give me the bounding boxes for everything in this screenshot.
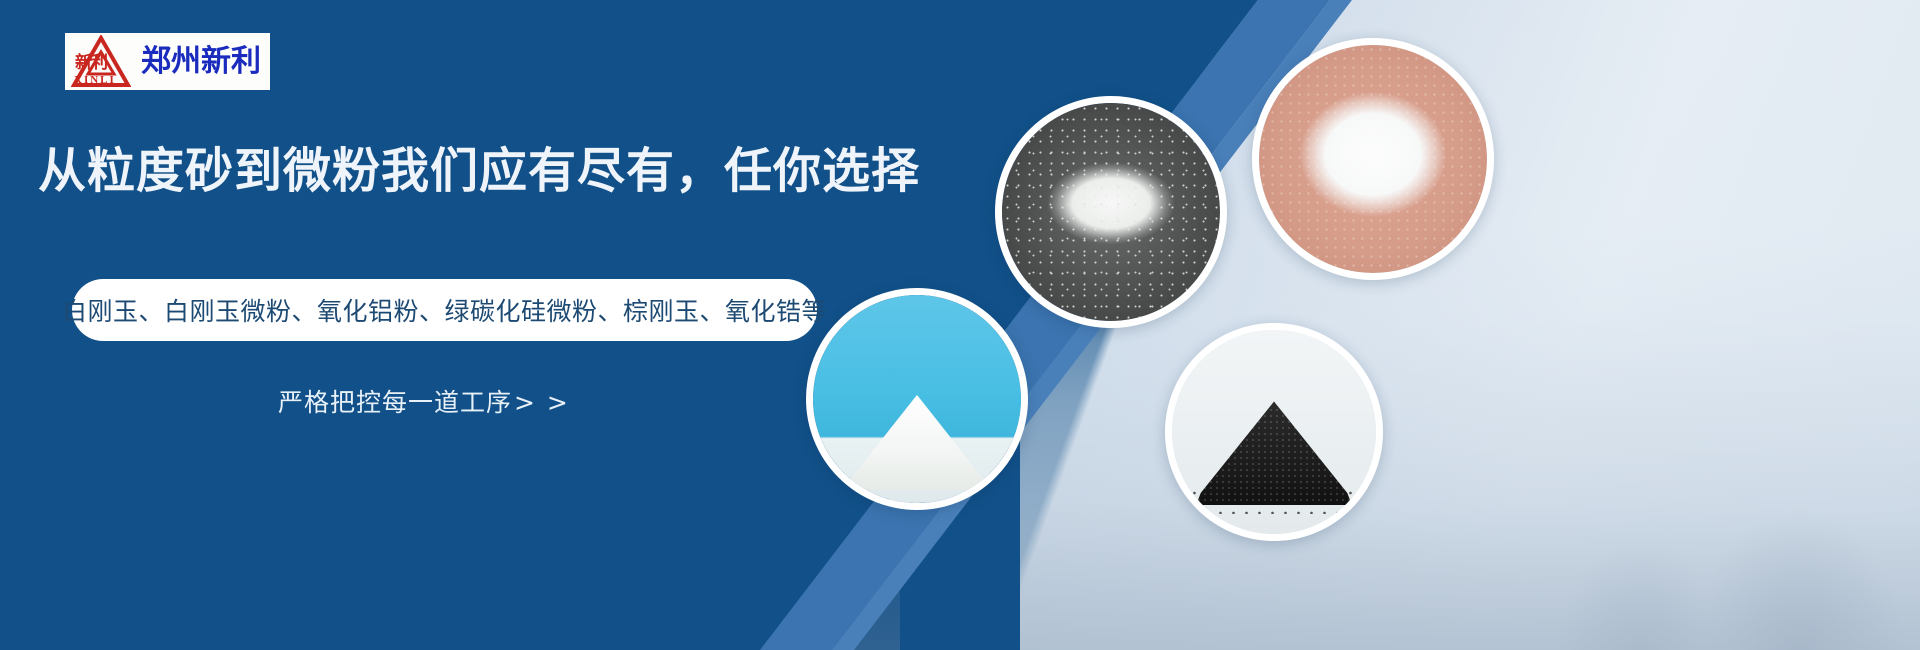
logo-company-name: 郑州新利	[141, 47, 261, 77]
logo-triangle-icon: 新利 XINLI	[65, 33, 137, 90]
photo-fill	[1172, 330, 1376, 534]
chevron-right-icon: > >	[514, 388, 570, 417]
product-photo-white-alumina-micro-powder	[1252, 38, 1494, 280]
granule-texture	[1002, 103, 1220, 321]
granule-cone-shape	[1196, 401, 1352, 505]
photo-fill	[1259, 45, 1487, 273]
photo-fill	[1002, 103, 1220, 321]
product-photo-black-silicon-carbide-granules	[1165, 323, 1383, 541]
photo-fill	[813, 295, 1021, 503]
powder-cone-shape	[842, 395, 992, 490]
process-link[interactable]: 严格把控每一道工序 > >	[278, 383, 570, 419]
company-logo[interactable]: 新利 XINLI 郑州新利	[65, 33, 270, 90]
logo-mark-pinyin: XINLI	[74, 75, 116, 86]
process-link-label: 严格把控每一道工序	[278, 383, 512, 419]
product-list-text: 白刚玉、白刚玉微粉、氧化铝粉、绿碳化硅微粉、棕刚玉、氧化锆等	[62, 292, 827, 328]
powder-texture	[1259, 45, 1487, 273]
logo-mark-chinese: 新利	[75, 55, 107, 72]
product-photo-white-fused-alumina-sand	[995, 96, 1227, 328]
promo-banner: 新利 XINLI 郑州新利 从粒度砂到微粉我们应有尽有，任你选择 白刚玉、白刚玉…	[0, 0, 1920, 650]
headline: 从粒度砂到微粉我们应有尽有，任你选择	[38, 143, 920, 201]
product-photo-white-powder-cone	[806, 288, 1028, 510]
product-list-pill: 白刚玉、白刚玉微粉、氧化铝粉、绿碳化硅微粉、棕刚玉、氧化锆等	[72, 279, 817, 341]
